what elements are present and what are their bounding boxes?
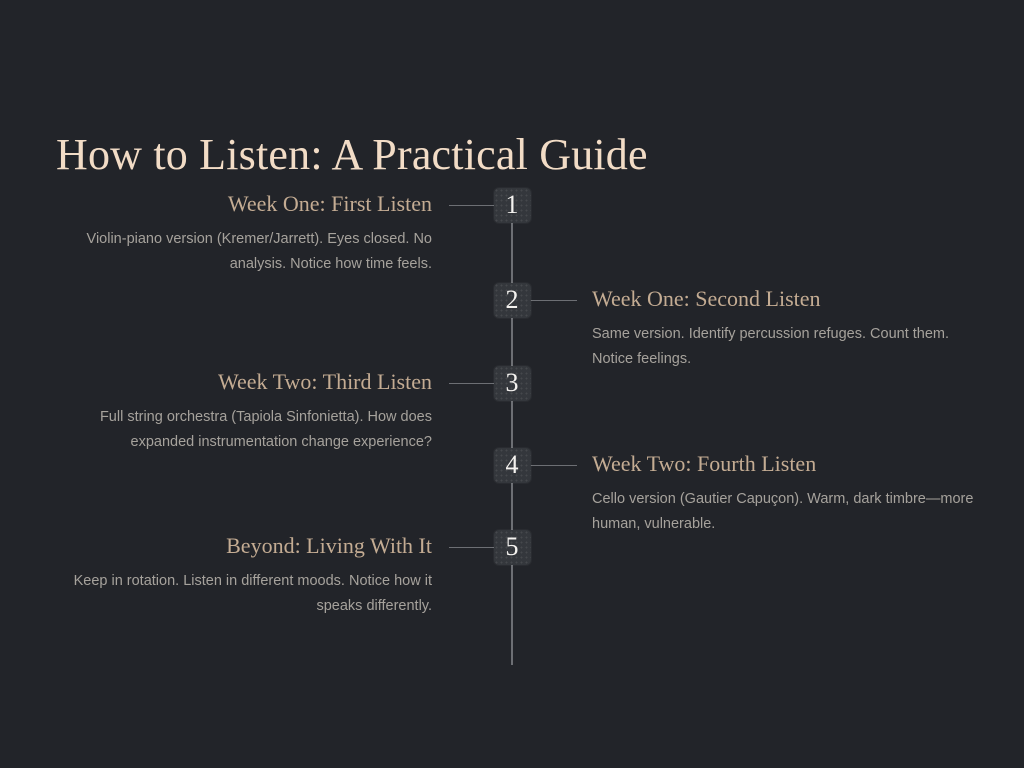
timeline-entry-2: Week One: Second Listen Same version. Id… <box>592 285 984 372</box>
timeline-marker-number: 3 <box>506 370 519 396</box>
timeline-marker-3[interactable]: 3 <box>494 366 531 401</box>
entry-body: Cello version (Gautier Capuçon). Warm, d… <box>592 487 984 538</box>
timeline-entry-4: Week Two: Fourth Listen Cello version (G… <box>592 450 984 537</box>
entry-body: Full string orchestra (Tapiola Sinfoniet… <box>60 405 432 456</box>
timeline-marker-4[interactable]: 4 <box>494 448 531 483</box>
entry-heading: Week Two: Third Listen <box>60 368 432 396</box>
entry-heading: Week Two: Fourth Listen <box>592 450 984 478</box>
connector-line-2 <box>530 300 577 301</box>
timeline-marker-number: 5 <box>506 534 519 560</box>
timeline-marker-2[interactable]: 2 <box>494 283 531 318</box>
entry-heading: Beyond: Living With It <box>60 532 432 560</box>
entry-body: Keep in rotation. Listen in different mo… <box>60 569 432 620</box>
timeline-marker-number: 1 <box>506 192 519 218</box>
connector-line-3 <box>449 383 494 384</box>
entry-body: Same version. Identify percussion refuge… <box>592 322 984 373</box>
connector-line-4 <box>530 465 577 466</box>
entry-heading: Week One: First Listen <box>60 190 432 218</box>
entry-body: Violin-piano version (Kremer/Jarrett). E… <box>60 227 432 278</box>
timeline-marker-number: 4 <box>506 452 519 478</box>
slide-canvas: How to Listen: A Practical Guide 1 Week … <box>0 0 1024 768</box>
timeline-marker-1[interactable]: 1 <box>494 188 531 223</box>
connector-line-1 <box>449 205 494 206</box>
page-title: How to Listen: A Practical Guide <box>56 129 648 181</box>
timeline-marker-number: 2 <box>506 287 519 313</box>
timeline-entry-3: Week Two: Third Listen Full string orche… <box>60 368 432 455</box>
timeline-entry-1: Week One: First Listen Violin-piano vers… <box>60 190 432 277</box>
timeline-marker-5[interactable]: 5 <box>494 530 531 565</box>
timeline-entry-5: Beyond: Living With It Keep in rotation.… <box>60 532 432 619</box>
entry-heading: Week One: Second Listen <box>592 285 984 313</box>
timeline-spine <box>511 205 513 665</box>
connector-line-5 <box>449 547 494 548</box>
